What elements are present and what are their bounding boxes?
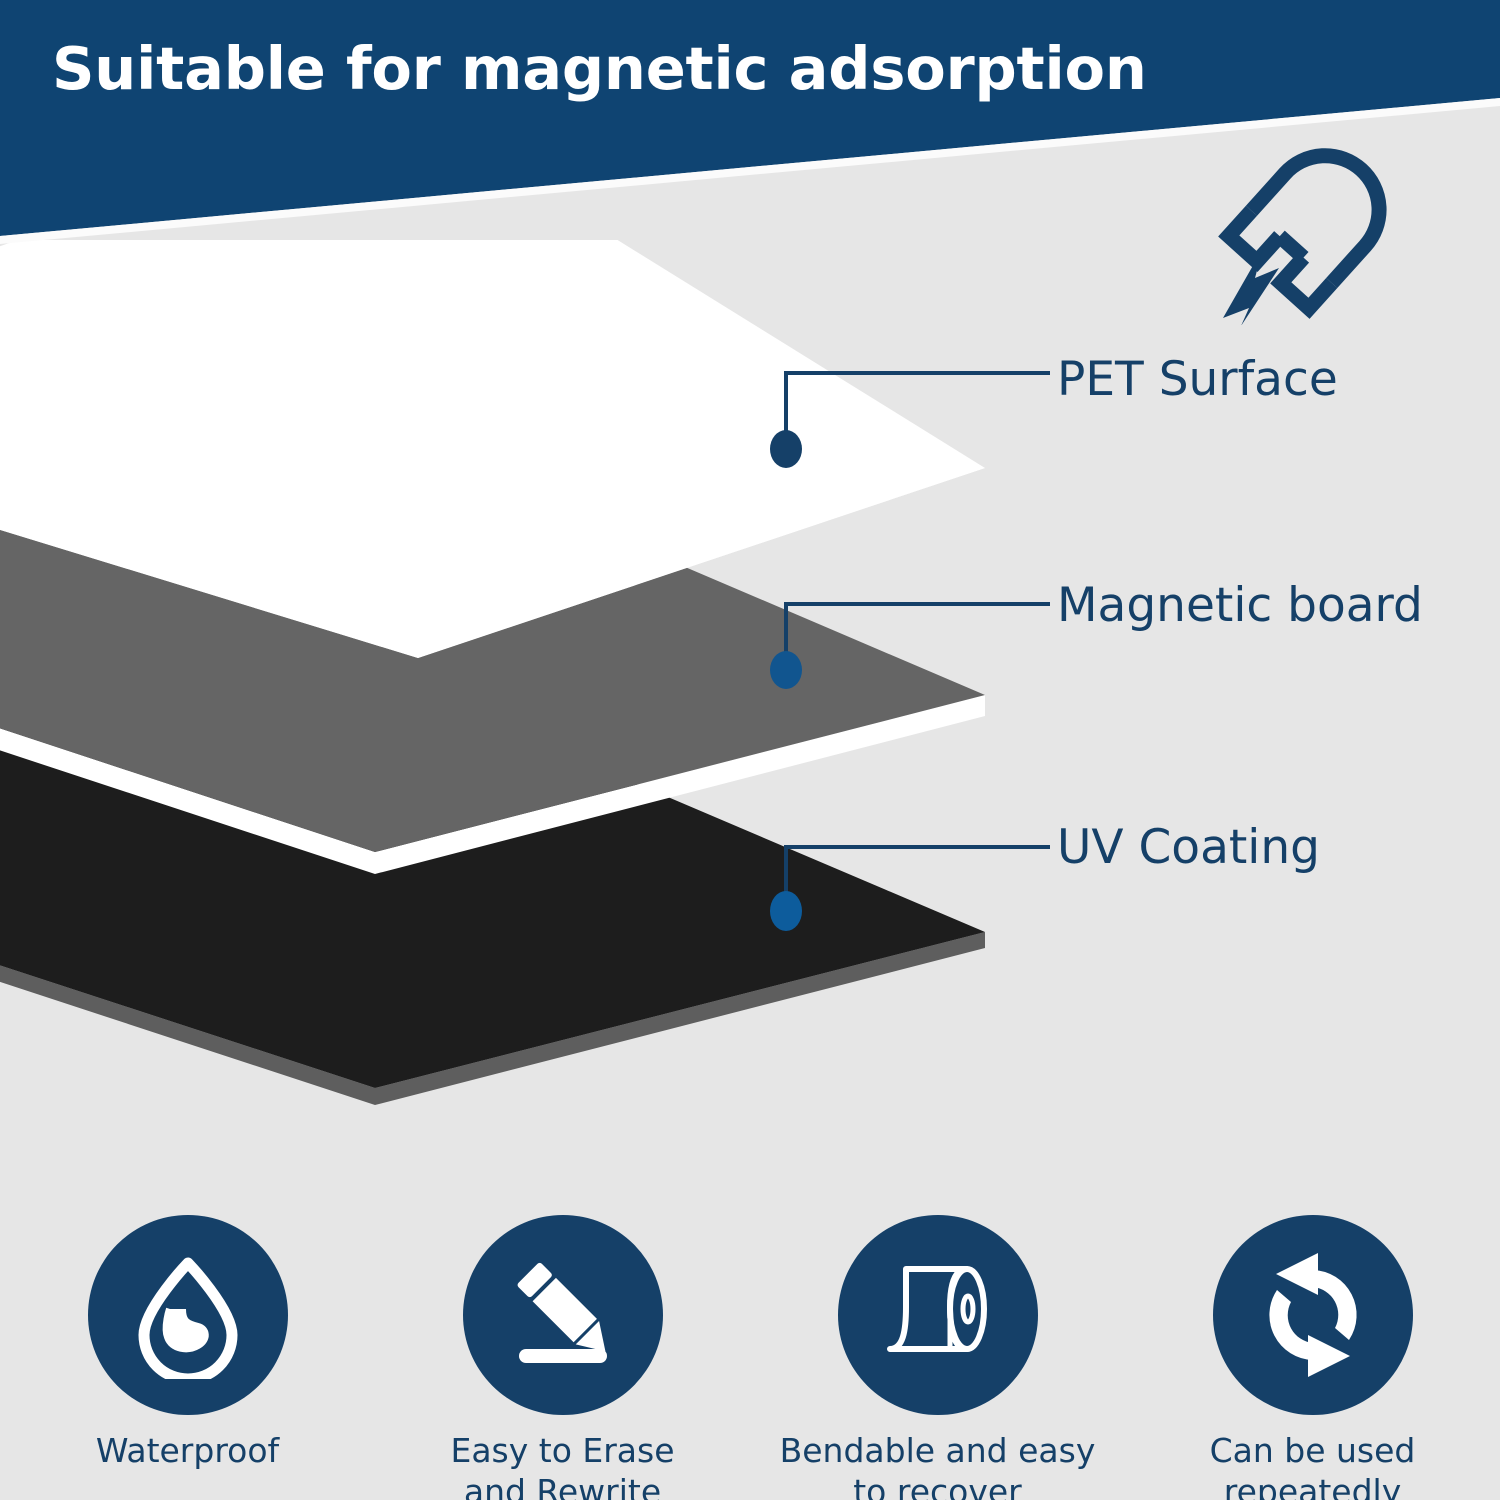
water-drop-icon — [124, 1251, 252, 1379]
feature-bendable-caption: Bendable and easyto recover — [780, 1431, 1096, 1500]
feature-erasable: Easy to Eraseand Rewrite — [375, 1215, 750, 1500]
layer-stack-diagram — [0, 240, 1020, 1120]
magnet-icon — [1205, 140, 1405, 325]
feature-erasable-caption: Easy to Eraseand Rewrite — [450, 1431, 674, 1500]
recycle-arrows-icon — [1246, 1248, 1380, 1382]
feature-row: Waterproof Easy to Eraseand Rewrite — [0, 1215, 1500, 1500]
layer-label-pet-surface: PET Surface — [1057, 352, 1338, 407]
feature-bendable-badge — [838, 1215, 1038, 1415]
product-infographic: Suitable for magnetic adsorption — [0, 0, 1500, 1500]
feature-reusable: Can be usedrepeatedly — [1125, 1215, 1500, 1500]
paper-roll-icon — [872, 1255, 1004, 1375]
feature-erasable-badge — [463, 1215, 663, 1415]
feature-waterproof-caption: Waterproof — [96, 1431, 279, 1472]
layer-label-uv-coating: UV Coating — [1057, 820, 1320, 875]
feature-reusable-badge — [1213, 1215, 1413, 1415]
pencil-write-icon — [499, 1251, 627, 1379]
layer-label-magnetic-board: Magnetic board — [1057, 578, 1423, 633]
feature-waterproof-badge — [88, 1215, 288, 1415]
feature-waterproof: Waterproof — [0, 1215, 375, 1500]
feature-bendable: Bendable and easyto recover — [750, 1215, 1125, 1500]
feature-reusable-caption: Can be usedrepeatedly — [1210, 1431, 1416, 1500]
page-title: Suitable for magnetic adsorption — [52, 34, 1147, 103]
